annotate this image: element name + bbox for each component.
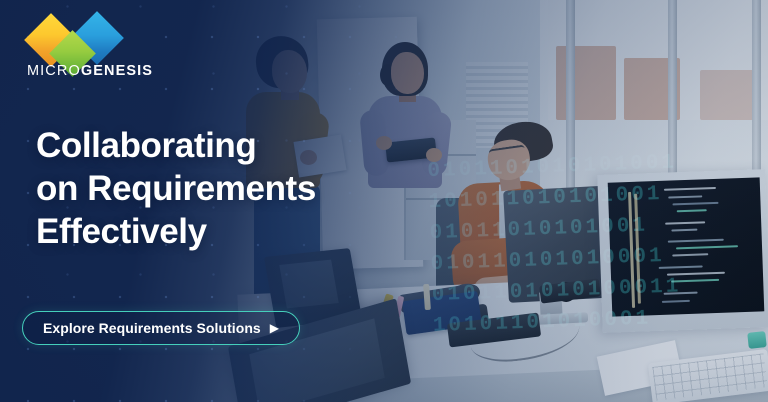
- headline-line-2: on Requirements: [36, 167, 316, 210]
- headline-line-1: Collaborating: [36, 124, 316, 167]
- brand-wordmark-bold: GENESIS: [81, 63, 153, 79]
- microgenesis-diamonds-logo: [26, 15, 146, 63]
- brand-wordmark: MICROGENESIS: [27, 63, 153, 79]
- brand-logo[interactable]: MICROGENESIS: [26, 15, 146, 85]
- hero-banner: 0101101010101001 101011010101001 0101101…: [0, 0, 768, 402]
- hero-content: MICROGENESIS Collaborating on Requiremen…: [0, 0, 768, 402]
- headline-line-3: Effectively: [36, 210, 316, 253]
- brand-wordmark-light: MICRO: [27, 63, 81, 79]
- play-triangle-icon: ▶: [270, 322, 279, 334]
- cta-label: Explore Requirements Solutions: [43, 320, 261, 336]
- explore-requirements-solutions-button[interactable]: Explore Requirements Solutions ▶: [22, 311, 300, 345]
- page-title: Collaborating on Requirements Effectivel…: [36, 124, 316, 253]
